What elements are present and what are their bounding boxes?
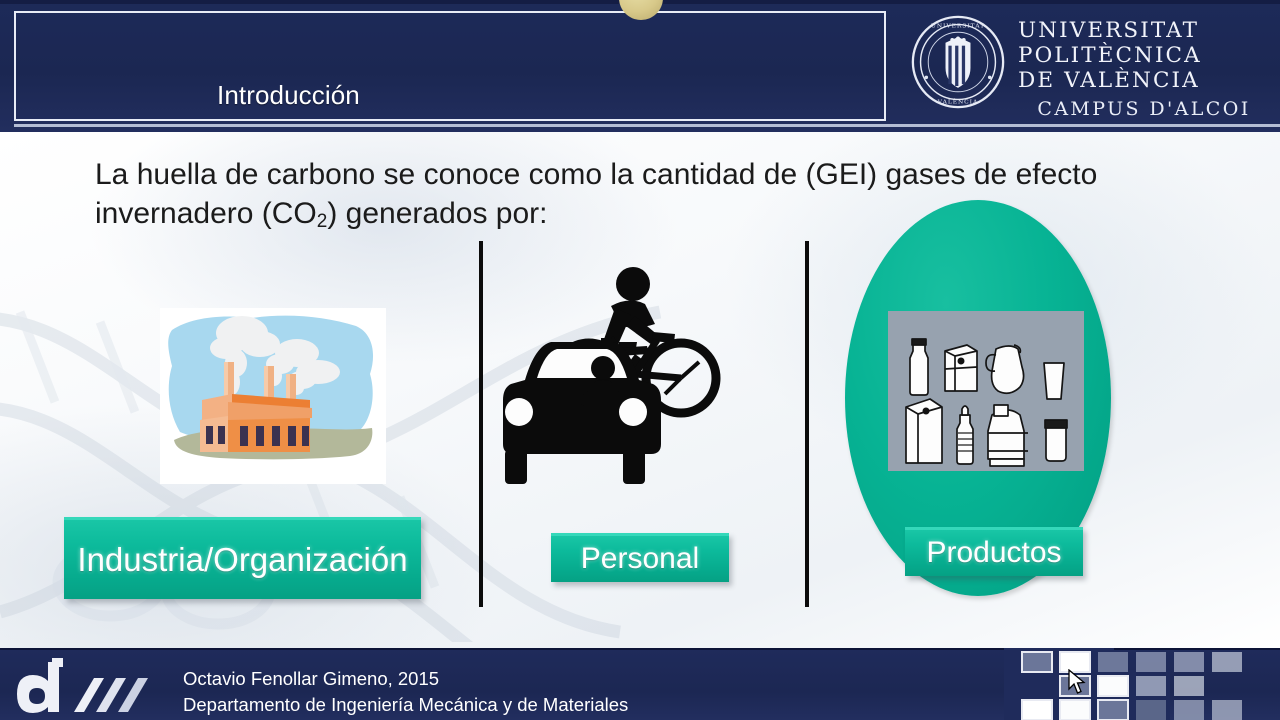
slide-canvas: Introducción (0, 0, 1280, 720)
co2-subscript: 2 (317, 211, 328, 232)
label-productos-text: Productos (926, 538, 1061, 568)
car-and-cyclist-icon (485, 262, 785, 510)
upv-line-2: POLITÈCNICA (1018, 43, 1268, 68)
footer-author: Octavio Fenollar Gimeno, 2015 (183, 666, 628, 692)
dimm-logo (14, 658, 164, 716)
factory-image (160, 308, 386, 484)
upv-campus-label: CAMPUS D'ALCOI (1018, 98, 1270, 120)
label-industria-organizacion[interactable]: Industria/Organización (64, 517, 421, 599)
upv-logo: UNIVERSITAT VALÈNCIA UNIVERSITAT POLITÈC… (900, 6, 1270, 128)
footer-tile-pattern (1004, 648, 1280, 720)
factory-icon (160, 308, 386, 484)
svg-text:UNIVERSITAT: UNIVERSITAT (931, 22, 985, 29)
upv-wordmark: UNIVERSITAT POLITÈCNICA DE VALÈNCIA (1018, 18, 1268, 93)
upv-line-3: DE VALÈNCIA (1018, 68, 1268, 93)
label-industria-text: Industria/Organización (77, 543, 407, 576)
dairy-products-image (888, 311, 1084, 471)
label-productos[interactable]: Productos (905, 527, 1083, 576)
svg-text:VALÈNCIA: VALÈNCIA (937, 97, 979, 105)
paragraph-part-2: ) generados por: (327, 197, 547, 230)
upv-line-1: UNIVERSITAT (1018, 18, 1268, 43)
page-title: Introducción (217, 82, 360, 108)
footer-credits: Octavio Fenollar Gimeno, 2015 Departamen… (183, 666, 628, 718)
footer-department: Departamento de Ingeniería Mecánica y de… (183, 692, 628, 718)
mouse-pointer (1068, 669, 1086, 695)
dairy-products-icon (888, 311, 1084, 471)
label-personal[interactable]: Personal (551, 533, 729, 582)
upv-seal-icon: UNIVERSITAT VALÈNCIA (910, 14, 1006, 110)
column-divider-1 (479, 241, 483, 607)
column-divider-2 (805, 241, 809, 607)
title-frame (14, 11, 886, 121)
slide-header: Introducción (0, 0, 1280, 132)
label-personal-text: Personal (581, 544, 699, 574)
